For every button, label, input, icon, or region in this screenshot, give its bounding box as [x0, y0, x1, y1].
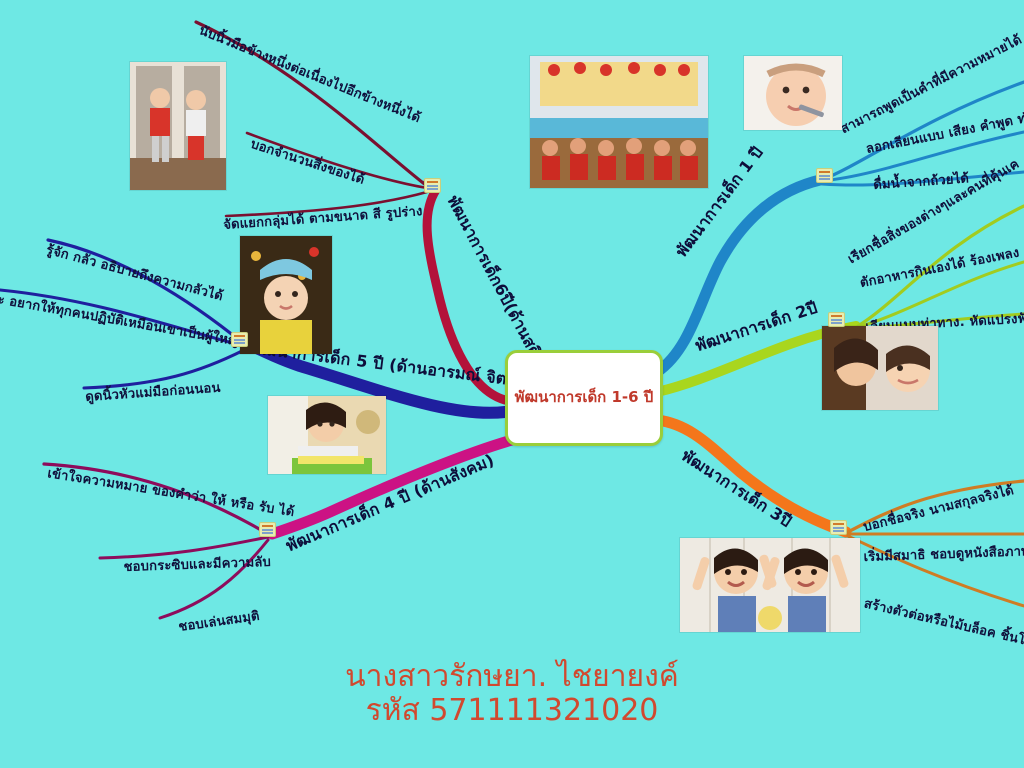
photo-classroom	[530, 56, 708, 188]
photo-baby-spoon-image	[744, 56, 842, 130]
mindmap-canvas: พัฒนาการเด็ก 1-6 ปี พัฒนาการเด็ก6ปี(ด้าน…	[0, 0, 1024, 768]
photo-girl-reading	[268, 396, 386, 474]
note-icon-dev-2y	[828, 312, 845, 327]
photo-twins-red-image	[130, 62, 226, 190]
author-caption: นางสาวรักษยา. ไชยายงค์ รหัส 571111321020	[0, 660, 1024, 727]
photo-twins-red	[130, 62, 226, 190]
author-code: รหัส 571111321020	[0, 694, 1024, 728]
photo-mother-child-image	[822, 326, 938, 410]
photo-twins-hands-up	[680, 538, 860, 632]
photo-classroom-image	[530, 56, 708, 188]
photo-twins-hands-up-image	[680, 538, 860, 632]
author-name: นางสาวรักษยา. ไชยายงค์	[0, 660, 1024, 694]
photo-girl-reading-image	[268, 396, 386, 474]
photo-mother-child	[822, 326, 938, 410]
photo-baby-spoon	[744, 56, 842, 130]
note-icon-emotional-5y	[231, 332, 248, 347]
central-topic-label: พัฒนาการเด็ก 1-6 ปี	[515, 388, 654, 408]
note-icon-social-4y	[259, 522, 276, 537]
photo-girl-hat	[240, 236, 332, 354]
note-icon-cognitive-6y	[424, 178, 441, 193]
photo-girl-hat-image	[240, 236, 332, 354]
central-topic[interactable]: พัฒนาการเด็ก 1-6 ปี	[505, 350, 663, 446]
note-icon-dev-1y	[816, 168, 833, 183]
note-icon-dev-3y	[830, 520, 847, 535]
